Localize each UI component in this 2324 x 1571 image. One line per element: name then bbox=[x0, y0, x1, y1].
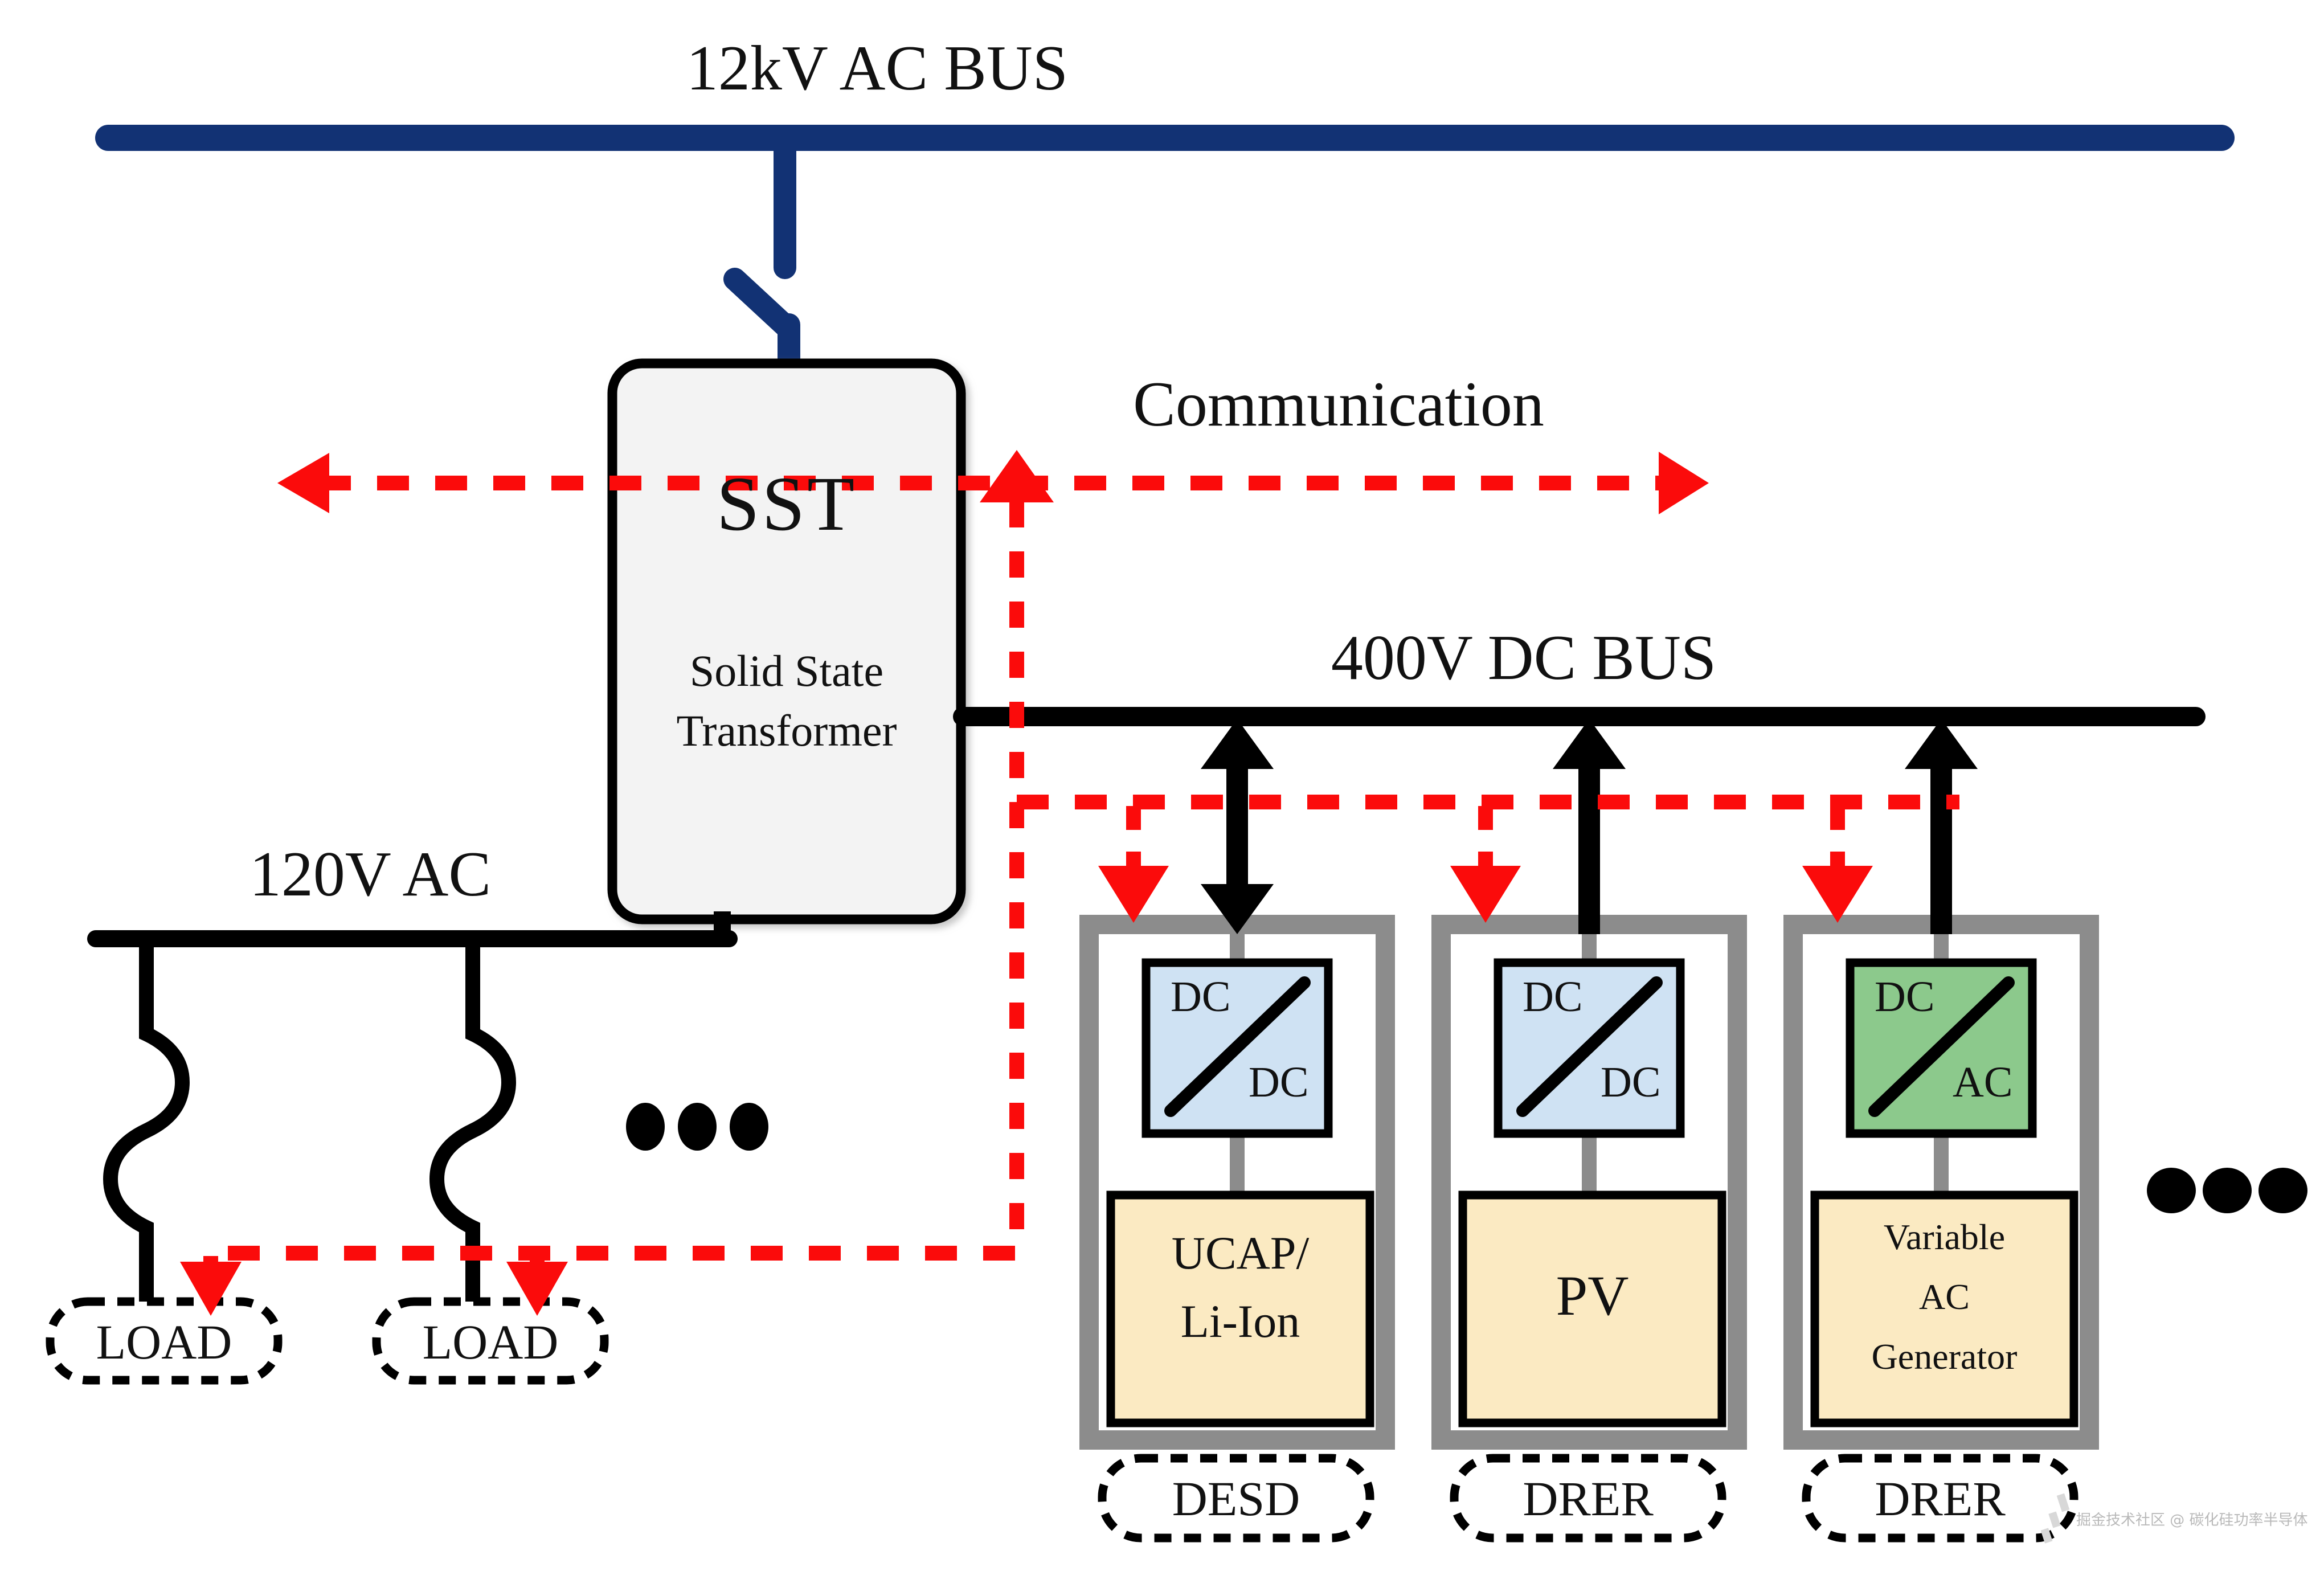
source-label-line3: Generator bbox=[1815, 1333, 2074, 1381]
module-drer-pv bbox=[1441, 719, 1737, 1538]
bus-label-400v: 400V DC BUS bbox=[1267, 621, 1780, 695]
module-tag-drer-pv: DRER bbox=[1454, 1468, 1722, 1528]
bus-label-120v: 120V AC bbox=[171, 837, 570, 911]
load-branch-1 bbox=[111, 943, 182, 1336]
module-drer-generator bbox=[1793, 719, 2089, 1538]
ac-bus-12kv bbox=[108, 138, 2221, 371]
power-arrow-bidirectional bbox=[1201, 719, 1274, 934]
converter-top-label: DC bbox=[1875, 975, 1935, 1018]
sst-block bbox=[612, 363, 961, 919]
source-label-line2: Li-Ion bbox=[1111, 1293, 1370, 1350]
watermark-text: 掘金技术社区 @ 碳化硅功率半导体 bbox=[2076, 1508, 2308, 1529]
source-label-line1: UCAP/ bbox=[1111, 1225, 1370, 1282]
source-label-line1: PV bbox=[1463, 1265, 1722, 1327]
converter-top-label: DC bbox=[1171, 975, 1231, 1018]
power-arrow-to-bus bbox=[1553, 719, 1626, 934]
ellipsis-dots-loads bbox=[626, 1103, 768, 1151]
converter-top-label: DC bbox=[1523, 975, 1583, 1018]
load-branch-2 bbox=[437, 943, 509, 1336]
module-tag-drer-generator: DRER bbox=[1806, 1468, 2074, 1528]
power-arrow-to-bus bbox=[1905, 719, 1978, 934]
sst-expansion-line1: Solid State bbox=[612, 644, 961, 698]
source-label-line1: Variable bbox=[1815, 1213, 2074, 1261]
sst-acronym: SST bbox=[612, 461, 961, 547]
ellipsis-dots-modules bbox=[2147, 1168, 2307, 1213]
load-label-2: LOAD bbox=[377, 1312, 604, 1372]
converter-bottom-label: DC bbox=[1249, 1061, 1309, 1104]
bus-label-12kv: 12kV AC BUS bbox=[621, 31, 1134, 105]
module-tag-desd: DESD bbox=[1102, 1468, 1370, 1528]
load-label-1: LOAD bbox=[50, 1312, 278, 1372]
diagram-canvas: 12kV AC BUS 400V DC BUS 120V AC Communic… bbox=[0, 0, 2324, 1571]
communication-label: Communication bbox=[1025, 365, 1652, 444]
source-label-line2: AC bbox=[1815, 1273, 2074, 1321]
sst-expansion-line2: Transformer bbox=[612, 703, 961, 758]
converter-bottom-label: DC bbox=[1601, 1061, 1661, 1104]
converter-bottom-label: AC bbox=[1953, 1061, 2013, 1104]
module-desd bbox=[1089, 719, 1385, 1538]
